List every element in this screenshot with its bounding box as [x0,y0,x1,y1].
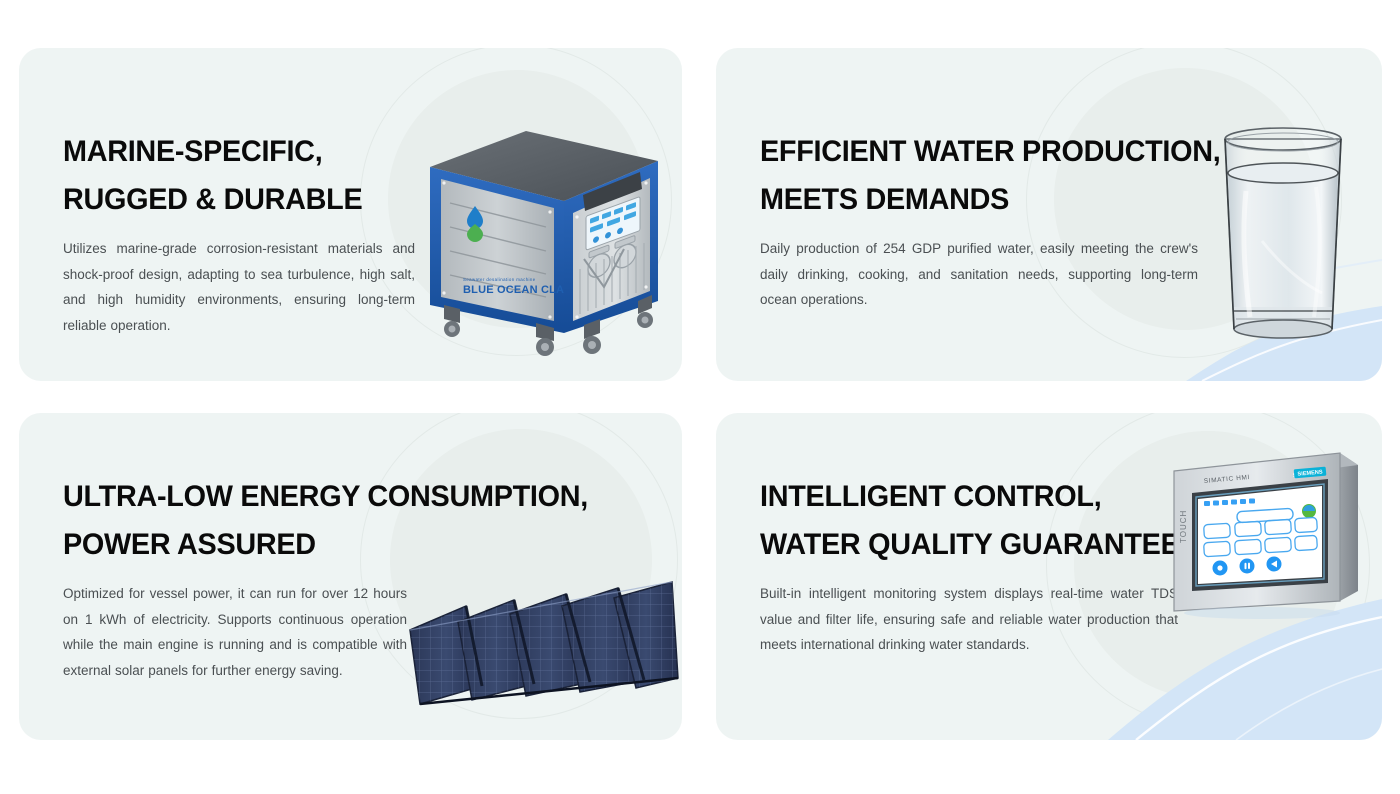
seawater-desalination-machine-image: Seawater desalination machine BLUE OCEAN… [408,109,676,371]
feature-card-efficient-water-production: EFFICIENT WATER PRODUCTION, MEETS DEMAND… [716,48,1382,381]
card-copy: EFFICIENT WATER PRODUCTION, MEETS DEMAND… [760,128,1198,313]
card-title-line2: RUGGED & DURABLE [63,176,401,224]
glass-of-purified-water-image [1198,121,1368,347]
card-copy: INTELLIGENT CONTROL, WATER QUALITY GUARA… [760,473,1178,658]
card-description: Utilizes marine-grade corrosion-resistan… [63,236,415,338]
card-description: Built-in intelligent monitoring system d… [760,581,1178,658]
svg-text:Seawater desalination machin: Seawater desalination machine [463,277,536,282]
card-title-line2: POWER ASSURED [63,521,393,569]
feature-card-intelligent-control: INTELLIGENT CONTROL, WATER QUALITY GUARA… [716,413,1382,740]
solar-panel-array-image [386,538,682,720]
card-title-line1: EFFICIENT WATER PRODUCTION, [760,128,1180,176]
card-description: Optimized for vessel power, it can run f… [63,581,407,683]
card-copy: MARINE-SPECIFIC, RUGGED & DURABLE Utiliz… [63,128,415,338]
card-copy: ULTRA-LOW ENERGY CONSUMPTION, POWER ASSU… [63,473,407,683]
hmi-touch-panel-image: SIMATIC HMI SIEMENS SIEMENS TOUCH [1152,431,1372,623]
svg-text:BLUE OCEAN CLAN: BLUE OCEAN CLAN [463,284,572,296]
feature-card-ultra-low-energy-consumption: ULTRA-LOW ENERGY CONSUMPTION, POWER ASSU… [19,413,682,740]
card-title-line1: ULTRA-LOW ENERGY CONSUMPTION, [63,473,393,521]
card-title-line1: INTELLIGENT CONTROL, [760,473,1161,521]
feature-card-grid: MARINE-SPECIFIC, RUGGED & DURABLE Utiliz… [0,0,1400,794]
svg-text:TOUCH: TOUCH [1179,510,1188,543]
card-description: Daily production of 254 GDP purified wat… [760,236,1198,313]
card-title-line2: MEETS DEMANDS [760,176,1180,224]
feature-card-marine-specific: MARINE-SPECIFIC, RUGGED & DURABLE Utiliz… [19,48,682,381]
card-title-line2: WATER QUALITY GUARANTEED [760,521,1161,569]
card-title-line1: MARINE-SPECIFIC, [63,128,401,176]
